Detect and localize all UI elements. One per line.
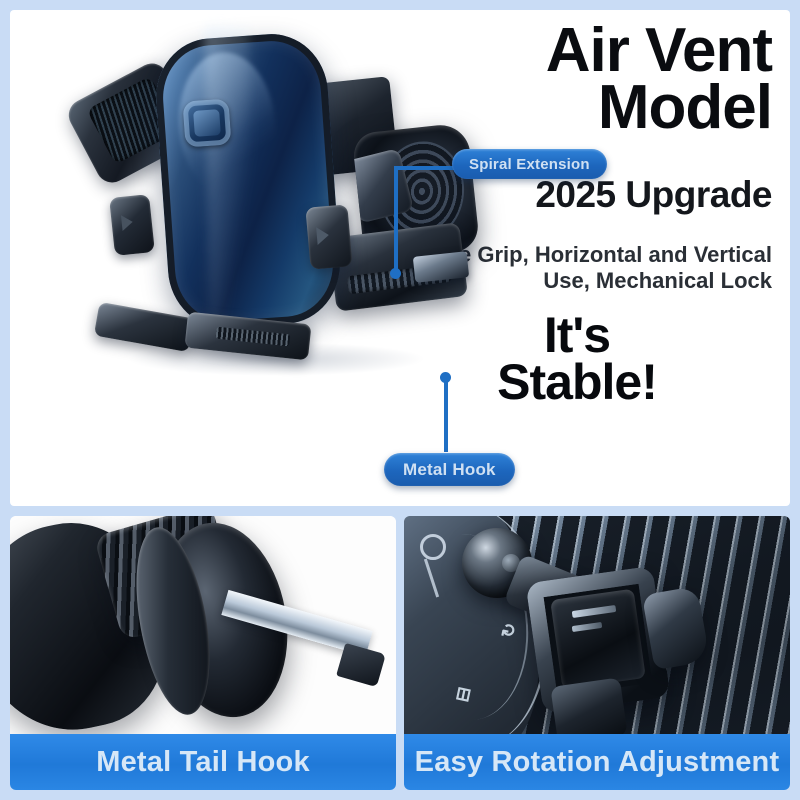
feature-card-easy-rotation: ↻ ⊟ Easy Rotation Adjustment [404,516,790,790]
callout-leader-hook-vertical [444,378,448,452]
callout-badge-metal-hook: Metal Hook [384,453,515,486]
callout-dot-spiral [390,268,401,279]
kicker-line-2: Stable! [382,359,772,406]
kicker-text: It's Stable! [382,312,772,406]
vent-clamp-foot [550,677,627,734]
callout-leader-spiral-vertical [394,166,398,274]
phone-cradle-body [152,30,344,331]
side-clip-left [109,194,155,256]
hero-panel: Spiral Extension Metal Hook Air Vent Mod… [10,10,790,506]
feature-card-photo: ↻ ⊟ [404,516,790,734]
callout-leader-spiral-horizontal [394,166,458,170]
metal-tail-hook-photo [10,516,396,734]
headline: Air Vent Model [382,22,772,136]
feature-card-label-easy-rotation: Easy Rotation Adjustment [404,734,790,790]
air-vent-install-photo: ↻ ⊟ [404,516,790,734]
dashboard-knob [420,534,446,560]
feature-card-metal-tail-hook: Metal Tail Hook [10,516,396,790]
feature-card-photo [10,516,396,734]
feature-card-label-metal-tail-hook: Metal Tail Hook [10,734,396,790]
cradle-center-button [182,98,231,147]
side-clip-right [305,204,352,269]
headline-line-1: Air Vent [382,22,772,79]
vent-clamp-inner [550,589,646,690]
metal-hook-tip [336,643,386,687]
kicker-line-1: It's [382,312,772,359]
callout-badge-spiral-extension: Spiral Extension [452,149,607,179]
callout-dot-hook [440,372,451,383]
feature-card-row: Metal Tail Hook ↻ ⊟ [10,516,790,790]
bottom-foot-left [94,302,194,352]
